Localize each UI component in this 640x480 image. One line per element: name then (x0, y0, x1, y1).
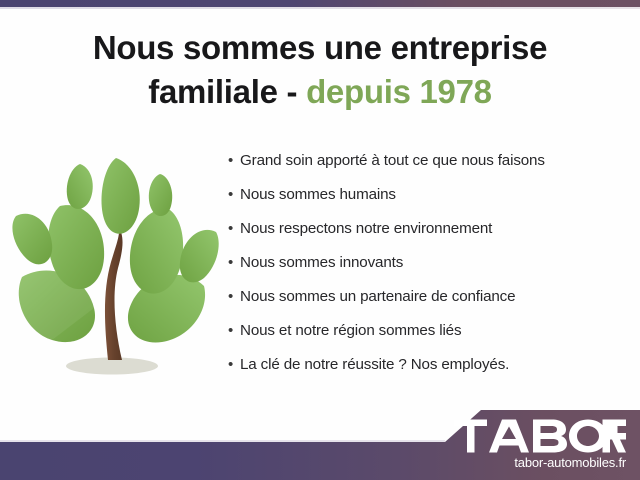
bullet-icon: • (228, 218, 240, 240)
top-accent-hairline (0, 7, 640, 9)
tree-shadow (66, 358, 158, 375)
bullet-icon: • (228, 184, 240, 206)
list-item: • Nous sommes un partenaire de confiance (228, 286, 628, 320)
brand-logo[interactable]: tabor-automobiles.fr (454, 419, 626, 470)
list-item: • Grand soin apporté à tout ce que nous … (228, 150, 628, 184)
footer-hairline (0, 440, 445, 442)
list-item: • Nous sommes humains (228, 184, 628, 218)
slide-canvas: Nous sommes une entreprise familiale - d… (0, 0, 640, 480)
top-accent-bar (0, 0, 640, 7)
list-item: • Nous sommes innovants (228, 252, 628, 286)
list-item: • Nous et notre région sommes liés (228, 320, 628, 354)
headline-plain-part: familiale - (148, 73, 297, 110)
headline-line-1: Nous sommes une entreprise (0, 26, 640, 70)
tree-icon (8, 150, 223, 390)
tree-trunk (105, 226, 123, 360)
benefits-list: • Grand soin apporté à tout ce que nous … (228, 150, 628, 388)
tree-illustration (8, 150, 223, 390)
tabor-wordmark-icon (454, 419, 626, 453)
page-title: Nous sommes une entreprise familiale - d… (0, 26, 640, 114)
list-item-label: La clé de notre réussite ? Nos employés. (240, 354, 509, 376)
brand-url[interactable]: tabor-automobiles.fr (454, 455, 626, 470)
bullet-icon: • (228, 252, 240, 274)
list-item-label: Nous sommes innovants (240, 252, 403, 274)
list-item: • Nous respectons notre environnement (228, 218, 628, 252)
headline-accent-part: depuis 1978 (306, 73, 492, 110)
list-item-label: Nous sommes humains (240, 184, 396, 206)
list-item: • La clé de notre réussite ? Nos employé… (228, 354, 628, 388)
bullet-icon: • (228, 150, 240, 172)
bullet-icon: • (228, 354, 240, 376)
list-item-label: Nous respectons notre environnement (240, 218, 492, 240)
list-item-label: Nous sommes un partenaire de confiance (240, 286, 515, 308)
footer-band: tabor-automobiles.fr (0, 405, 640, 480)
bullet-icon: • (228, 286, 240, 308)
bullet-icon: • (228, 320, 240, 342)
headline-line-2: familiale - depuis 1978 (0, 70, 640, 114)
list-item-label: Grand soin apporté à tout ce que nous fa… (240, 150, 545, 172)
list-item-label: Nous et notre région sommes liés (240, 320, 461, 342)
